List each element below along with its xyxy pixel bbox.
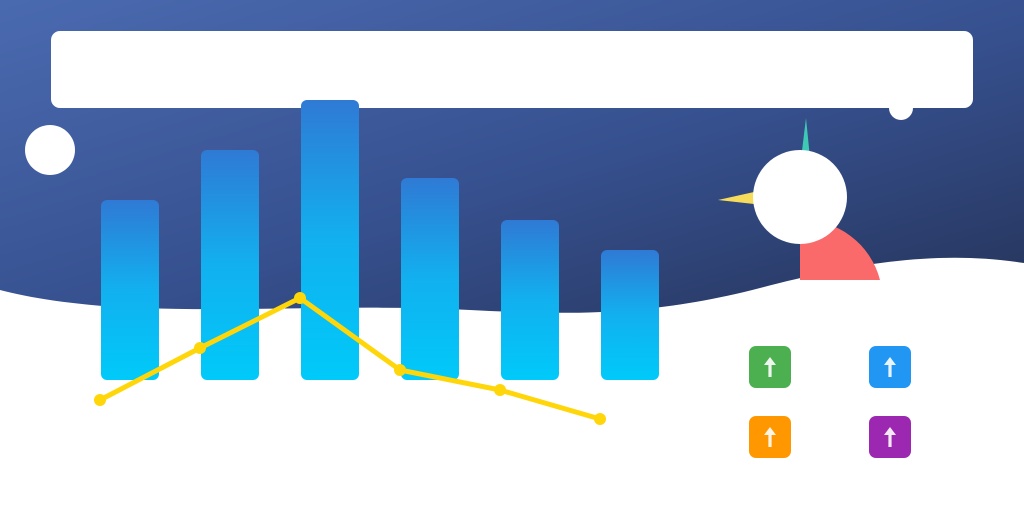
- action-button-green[interactable]: Increase: [749, 346, 791, 388]
- trend-marker-1: [94, 394, 106, 406]
- arrow-up-icon: [882, 425, 898, 449]
- arrow-up-icon: [762, 425, 778, 449]
- illustration-canvas: Increase Upload Boost Promote: [0, 0, 1024, 512]
- arrow-up-icon: [762, 355, 778, 379]
- action-button-orange[interactable]: Boost: [749, 416, 791, 458]
- trend-marker-5: [494, 384, 506, 396]
- trend-marker-2: [194, 342, 206, 354]
- bar-6: [601, 250, 659, 380]
- bar-4: [401, 178, 459, 380]
- trend-marker-4: [394, 364, 406, 376]
- bar-series: [101, 100, 659, 380]
- action-button-blue[interactable]: Upload: [869, 346, 911, 388]
- trend-marker-6: [594, 413, 606, 425]
- arrow-up-icon: [882, 355, 898, 379]
- bar-5: [501, 220, 559, 380]
- action-button-purple[interactable]: Promote: [869, 416, 911, 458]
- bar-3: [301, 100, 359, 380]
- action-button-grid: Increase Upload Boost Promote: [749, 346, 911, 462]
- bar-1: [101, 200, 159, 380]
- trend-marker-3: [294, 292, 306, 304]
